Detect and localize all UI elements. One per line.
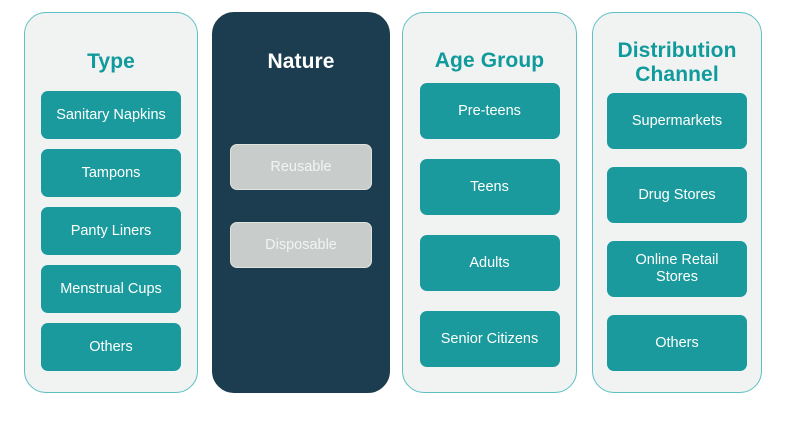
chip-item[interactable]: Disposable (230, 222, 372, 268)
chip-item[interactable]: Online Retail Stores (607, 241, 747, 297)
chip-item[interactable]: Sanitary Napkins (41, 91, 181, 139)
segmentation-board: Type Sanitary Napkins Tampons Panty Line… (0, 0, 786, 437)
card-title-age-group: Age Group (435, 49, 544, 73)
chip-item[interactable]: Panty Liners (41, 207, 181, 255)
chip-item[interactable]: Supermarkets (607, 93, 747, 149)
chip-item[interactable]: Tampons (41, 149, 181, 197)
chip-item[interactable]: Adults (420, 235, 560, 291)
chip-item[interactable]: Pre-teens (420, 83, 560, 139)
card-title-distribution-channel: Distribution Channel (593, 39, 761, 87)
category-card-type: Type Sanitary Napkins Tampons Panty Line… (24, 12, 198, 393)
chip-item[interactable]: Drug Stores (607, 167, 747, 223)
category-card-distribution-channel: Distribution Channel Supermarkets Drug S… (592, 12, 762, 393)
chip-item[interactable]: Menstrual Cups (41, 265, 181, 313)
category-card-nature: Nature Reusable Disposable (212, 12, 390, 393)
chip-item[interactable]: Others (607, 315, 747, 371)
card-title-nature: Nature (267, 50, 334, 74)
chip-list-type: Sanitary Napkins Tampons Panty Liners Me… (25, 91, 197, 381)
card-title-type: Type (87, 50, 135, 74)
chip-list-nature: Reusable Disposable (213, 144, 389, 300)
chip-item[interactable]: Teens (420, 159, 560, 215)
chip-item[interactable]: Reusable (230, 144, 372, 190)
chip-item[interactable]: Others (41, 323, 181, 371)
chip-list-age-group: Pre-teens Teens Adults Senior Citizens (403, 83, 576, 387)
chip-list-distribution-channel: Supermarkets Drug Stores Online Retail S… (593, 93, 761, 389)
chip-item[interactable]: Senior Citizens (420, 311, 560, 367)
category-card-age-group: Age Group Pre-teens Teens Adults Senior … (402, 12, 577, 393)
